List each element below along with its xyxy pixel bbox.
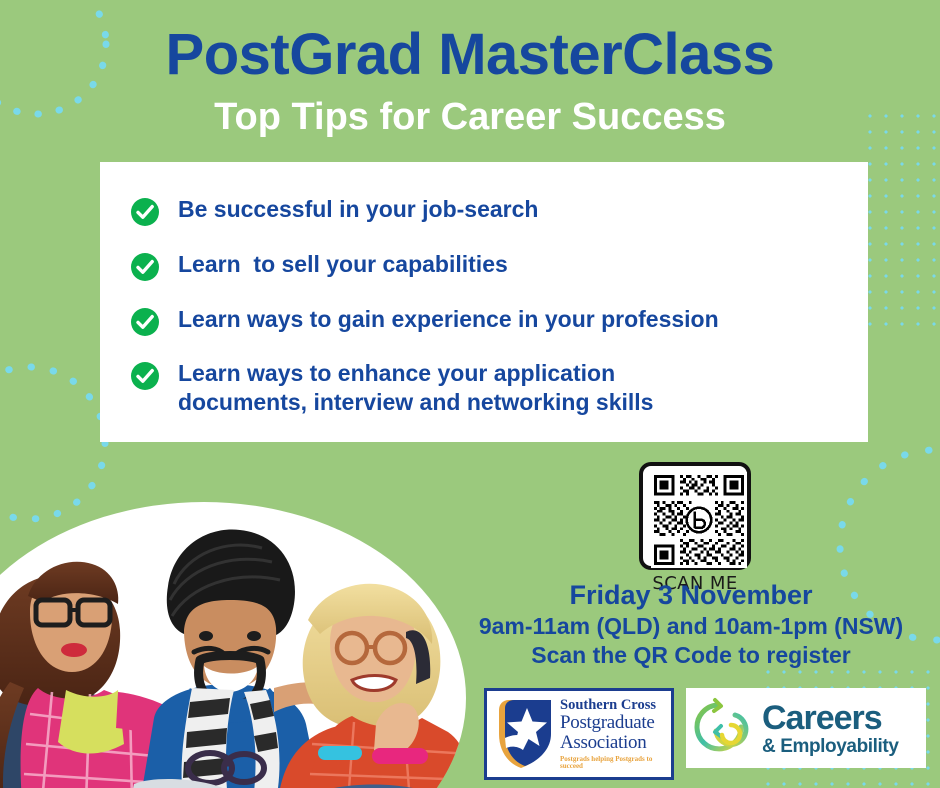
poster-canvas: PostGrad MasterClass Top Tips for Career… <box>0 0 940 788</box>
scpa-line-1: Southern Cross <box>560 698 665 713</box>
qr-code-block[interactable]: SCAN ME <box>634 462 756 594</box>
list-item: Learn ways to gain experience in your pr… <box>130 305 840 337</box>
careers-wordmark: Careers & Employability <box>762 701 899 756</box>
page-title: PostGrad MasterClass <box>0 26 940 84</box>
event-time: 9am-11am (QLD) and 10am-1pm (NSW) <box>450 612 932 641</box>
check-circle-icon <box>130 197 160 227</box>
scpa-line-3: Association <box>560 733 665 752</box>
scpa-logo: Southern Cross Postgraduate Association … <box>484 688 674 780</box>
check-circle-icon <box>130 307 160 337</box>
circular-arrows-icon <box>694 695 756 762</box>
list-item: Learn to sell your capabilities <box>130 250 840 282</box>
shield-star-icon <box>493 694 555 775</box>
list-item-label: Learn to sell your capabilities <box>178 250 508 279</box>
list-item-label: Learn ways to enhance your application d… <box>178 359 653 417</box>
event-date: Friday 3 November <box>450 580 932 612</box>
check-circle-icon <box>130 361 160 391</box>
event-details: Friday 3 November 9am-11am (QLD) and 10a… <box>450 580 932 669</box>
list-item-label: Learn ways to gain experience in your pr… <box>178 305 719 334</box>
scpa-line-2: Postgraduate <box>560 713 665 732</box>
careers-line-1: Careers <box>762 701 899 735</box>
benefits-card: Be successful in your job-search Learn t… <box>100 162 868 442</box>
qr-code-icon[interactable] <box>639 462 751 570</box>
careers-line-2: & Employability <box>762 737 899 756</box>
scpa-tagline: Postgrads helping Postgrads to succeed <box>560 756 665 770</box>
logo-row: Southern Cross Postgraduate Association … <box>484 688 926 780</box>
list-item: Be successful in your job-search <box>130 195 840 227</box>
careers-logo: Careers & Employability <box>686 688 926 768</box>
dot-grid-top-right <box>858 104 940 334</box>
scpa-wordmark: Southern Cross Postgraduate Association … <box>560 698 665 771</box>
list-item: Learn ways to enhance your application d… <box>130 359 840 417</box>
students-photo <box>0 492 474 788</box>
page-subtitle: Top Tips for Career Success <box>0 98 940 136</box>
list-item-label: Be successful in your job-search <box>178 195 538 224</box>
event-cta: Scan the QR Code to register <box>450 641 932 670</box>
check-circle-icon <box>130 252 160 282</box>
